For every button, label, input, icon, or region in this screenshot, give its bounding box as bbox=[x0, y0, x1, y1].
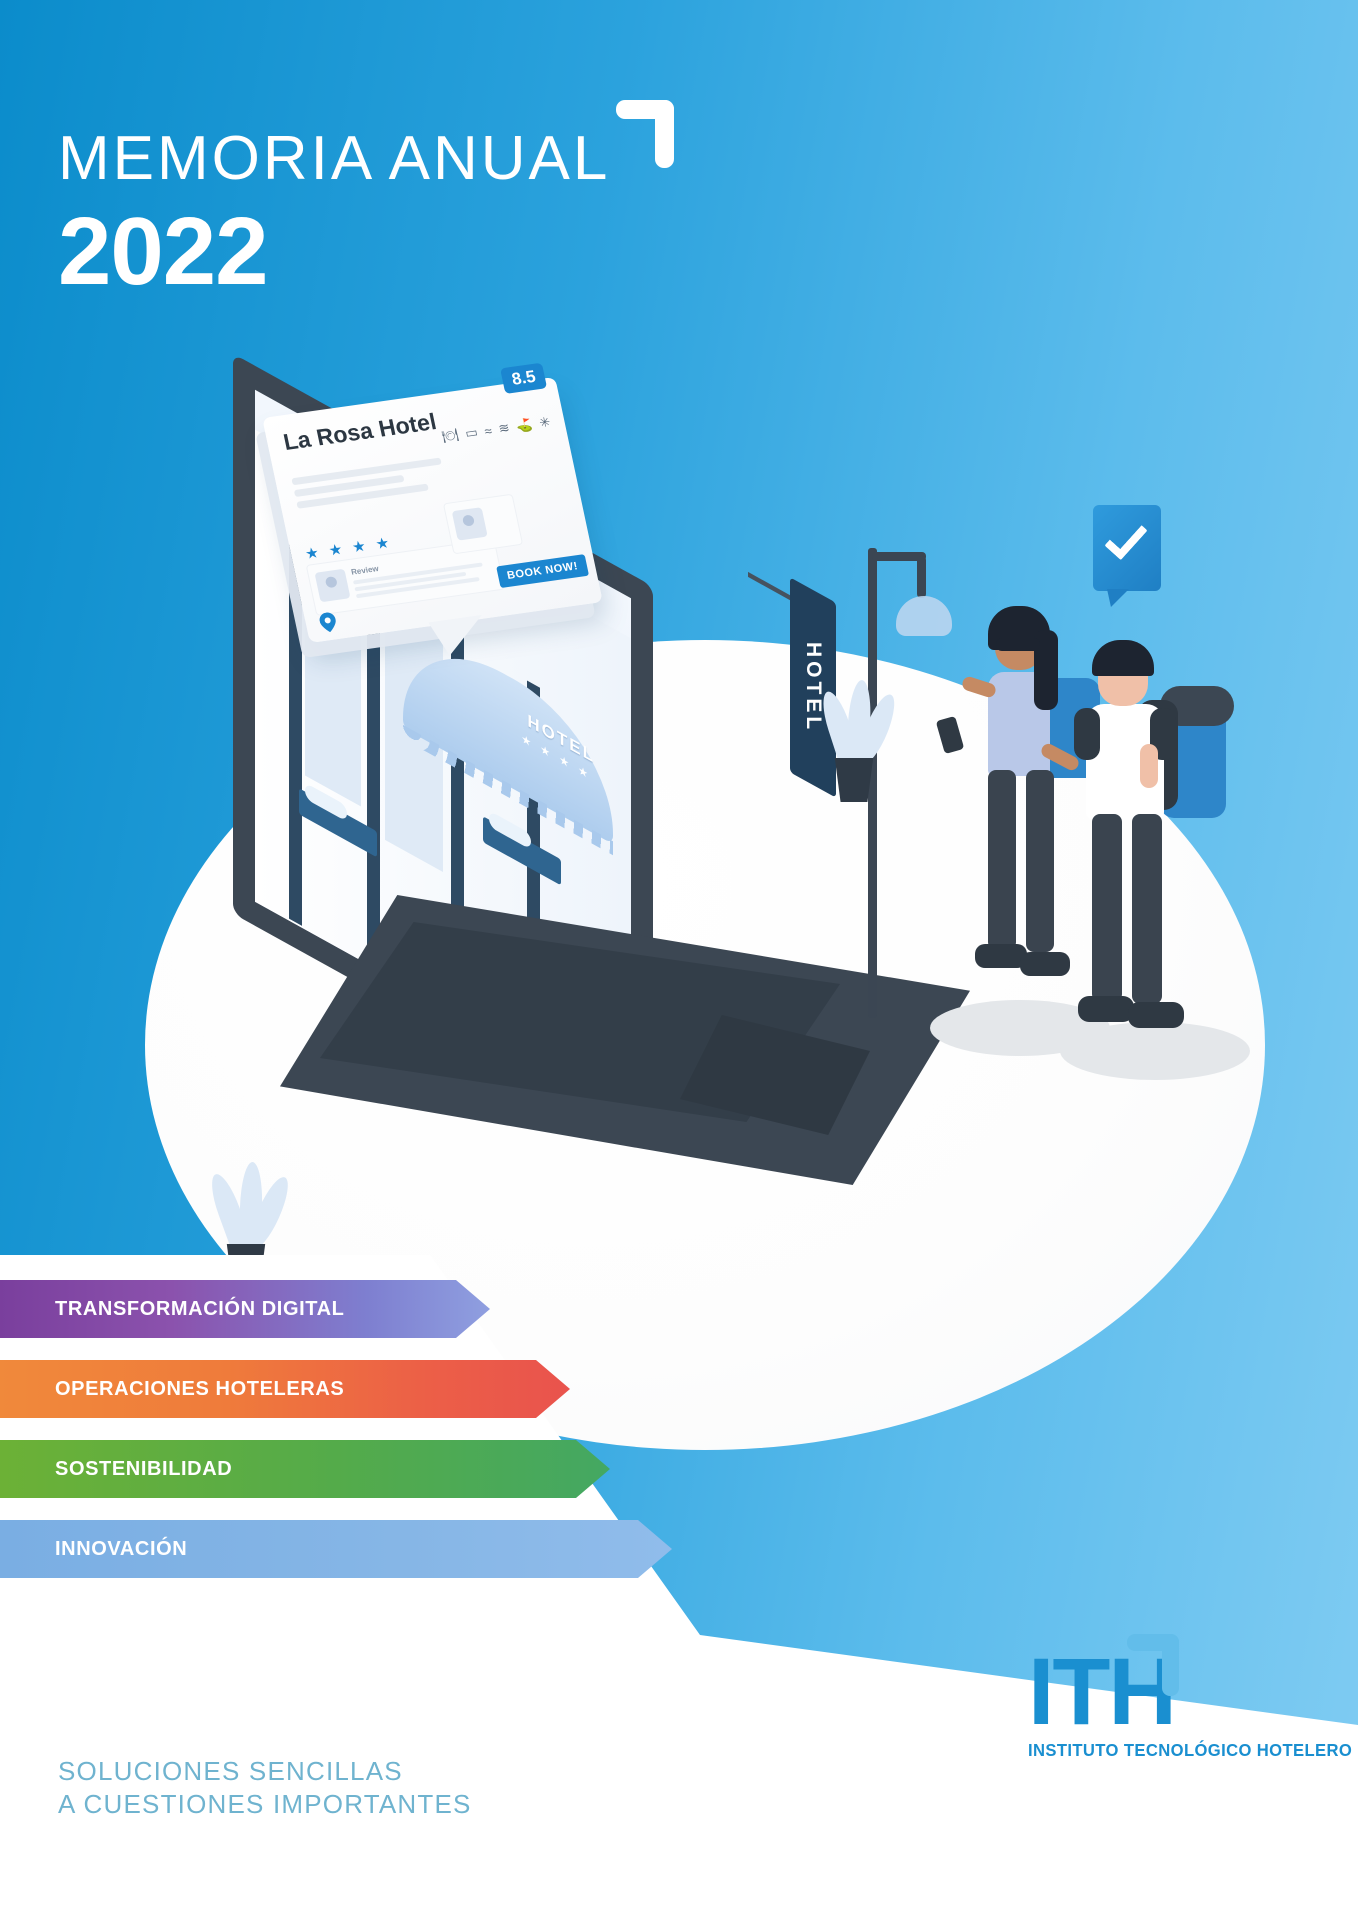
section-banner-label: SOSTENIBILIDAD bbox=[0, 1458, 232, 1481]
book-now-button[interactable]: BOOK NOW! bbox=[496, 554, 589, 588]
section-banner-innovacion[interactable]: INNOVACIÓN bbox=[0, 1520, 672, 1578]
cover-title-block: MEMORIA ANUAL 2022 bbox=[58, 128, 674, 300]
map-pin-icon bbox=[318, 611, 338, 633]
cover-year: 2022 bbox=[58, 204, 674, 300]
section-banner-label: INNOVACIÓN bbox=[0, 1538, 187, 1561]
tv-icon: ▭ bbox=[464, 424, 480, 441]
restaurant-icon: 🍽 bbox=[440, 427, 460, 445]
section-banner-operaciones-hoteleras[interactable]: OPERACIONES HOTELERAS bbox=[0, 1360, 570, 1418]
page-title: MEMORIA ANUAL bbox=[58, 128, 610, 190]
cover-page: HOTEL ★ ★ ★ ★ 8.5 La Rosa Hotel 🍽 ▭ ≈ ≋ bbox=[0, 0, 1358, 1920]
parking-icon: ⛳ bbox=[515, 417, 534, 435]
placeholder-text-lines bbox=[291, 458, 447, 514]
reviewer-name: Review bbox=[350, 564, 379, 577]
check-bubble-icon bbox=[1093, 505, 1161, 591]
corner-bracket-icon bbox=[616, 100, 674, 168]
tagline: SOLUCIONES SENCILLAS A CUESTIONES IMPORT… bbox=[58, 1755, 472, 1822]
avatar bbox=[452, 507, 488, 541]
section-banner-label: OPERACIONES HOTELERAS bbox=[0, 1378, 344, 1401]
hotel-score-badge: 8.5 bbox=[500, 363, 547, 394]
hotel-sign-label: HOTEL bbox=[801, 642, 825, 733]
section-banner-list: TRANSFORMACIÓN DIGITAL OPERACIONES HOTEL… bbox=[0, 1280, 620, 1600]
hotel-review-card: 8.5 La Rosa Hotel 🍽 ▭ ≈ ≋ ⛳ ✳ ★ ★ ★ ★ Re… bbox=[262, 377, 603, 643]
hotel-vertical-sign: HOTEL bbox=[790, 577, 836, 797]
user-card bbox=[443, 494, 523, 555]
spa-icon: ✳ bbox=[538, 414, 552, 431]
tagline-line-1: SOLUCIONES SENCILLAS bbox=[58, 1755, 472, 1788]
wifi-icon: ≈ bbox=[483, 423, 493, 439]
corner-bracket-icon bbox=[1127, 1634, 1179, 1696]
tagline-line-2: A CUESTIONES IMPORTANTES bbox=[58, 1788, 472, 1821]
section-banner-label: TRANSFORMACIÓN DIGITAL bbox=[0, 1298, 344, 1321]
pool-icon: ≋ bbox=[497, 420, 511, 437]
ith-logo: ITH INSTITUTO TECNOLÓGICO HOTELERO bbox=[1028, 1650, 1298, 1810]
ith-subtitle: INSTITUTO TECNOLÓGICO HOTELERO bbox=[1028, 1740, 1285, 1761]
section-banner-transformacion-digital[interactable]: TRANSFORMACIÓN DIGITAL bbox=[0, 1280, 490, 1338]
avatar bbox=[315, 569, 351, 603]
section-banner-sostenibilidad[interactable]: SOSTENIBILIDAD bbox=[0, 1440, 610, 1498]
